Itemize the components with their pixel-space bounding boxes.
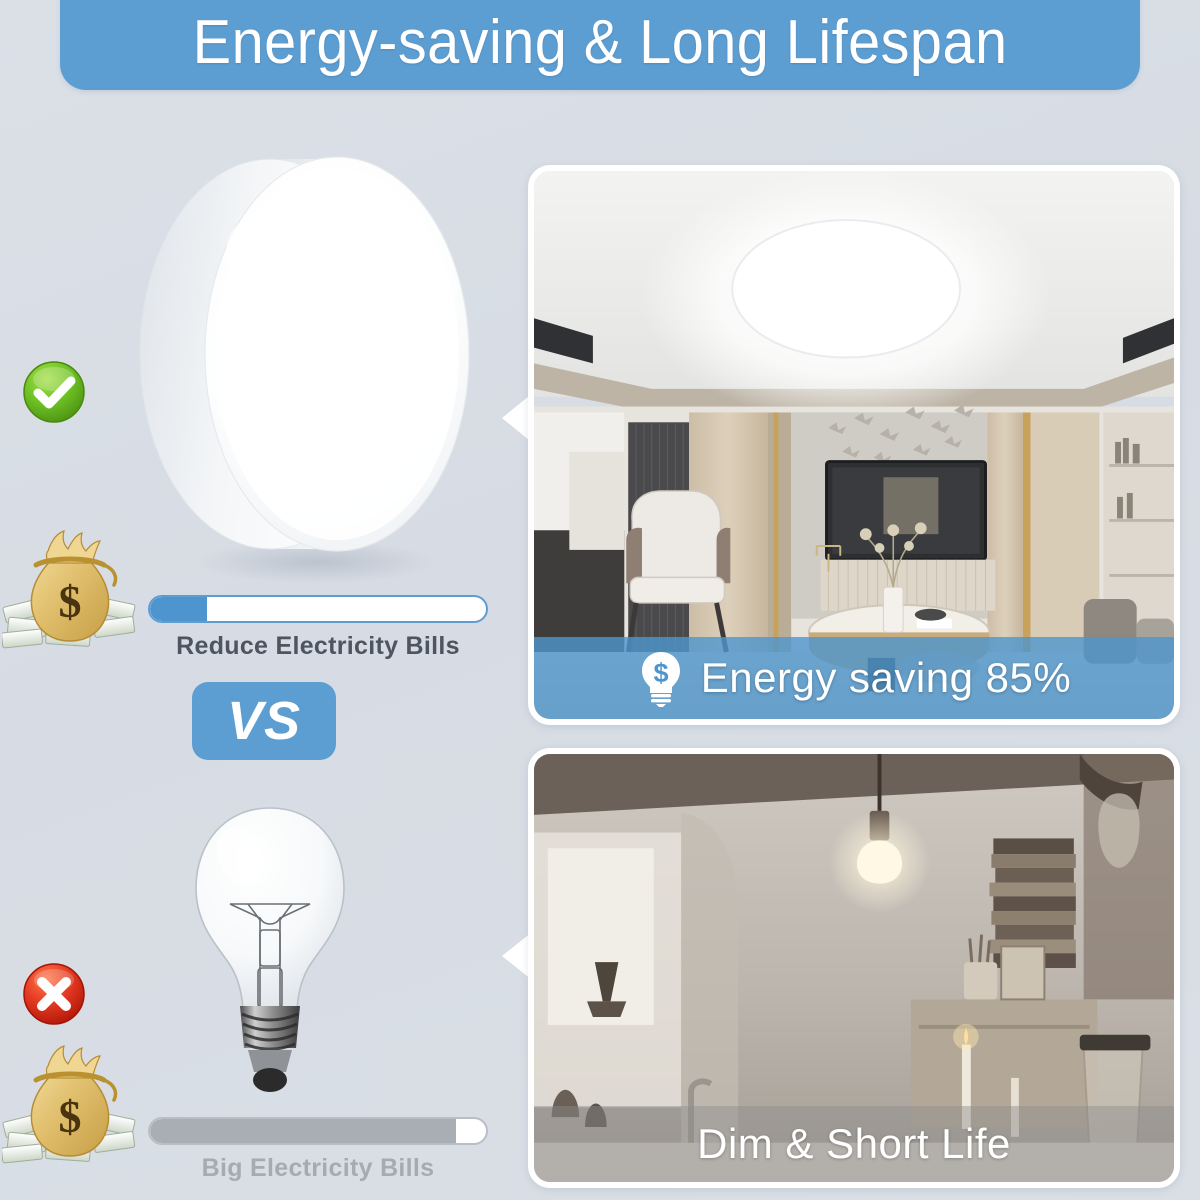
red-cross-circle-icon: [22, 962, 86, 1026]
dim-caption-bar: Dim & Short Life: [534, 1106, 1174, 1182]
led-ceiling-light-icon: [122, 132, 492, 592]
incandescent-bulb-icon: [168, 800, 373, 1115]
meter-track: [148, 1117, 488, 1145]
dim-room-photo-panel: Dim & Short Life: [528, 748, 1180, 1188]
product-comparison-infographic: Energy-saving & Long Lifespan: [0, 0, 1200, 1200]
reduce-electricity-bills-meter: Reduce Electricity Bills: [148, 595, 488, 661]
meter-track: [148, 595, 488, 623]
money-bag-icon: $: [2, 525, 138, 649]
dollar-lightbulb-icon: $: [637, 649, 685, 707]
vs-label: VS: [227, 694, 301, 748]
left-comparison-column: $ Reduce Electricity Bills VS: [0, 110, 520, 1200]
meter-label: Big Electricity Bills: [148, 1154, 488, 1183]
big-electricity-bills-meter: Big Electricity Bills: [148, 1117, 488, 1183]
header-banner: Energy-saving & Long Lifespan: [60, 0, 1140, 90]
meter-fill: [150, 597, 207, 621]
svg-text:$: $: [59, 576, 82, 627]
money-bag-icon: $: [2, 1040, 138, 1164]
bright-room-photo-panel: $ Energy saving 85%: [528, 165, 1180, 725]
dim-caption-text: Dim & Short Life: [697, 1123, 1011, 1165]
green-check-circle-icon: [22, 360, 86, 424]
bright-caption-bar: $ Energy saving 85%: [534, 637, 1174, 719]
meter-label: Reduce Electricity Bills: [148, 632, 488, 661]
page-title: Energy-saving & Long Lifespan: [193, 12, 1008, 90]
vs-badge: VS: [192, 682, 336, 760]
meter-fill: [150, 1119, 456, 1143]
svg-text:$: $: [653, 658, 668, 688]
svg-text:$: $: [59, 1091, 82, 1142]
bright-caption-text: Energy saving 85%: [701, 657, 1071, 699]
